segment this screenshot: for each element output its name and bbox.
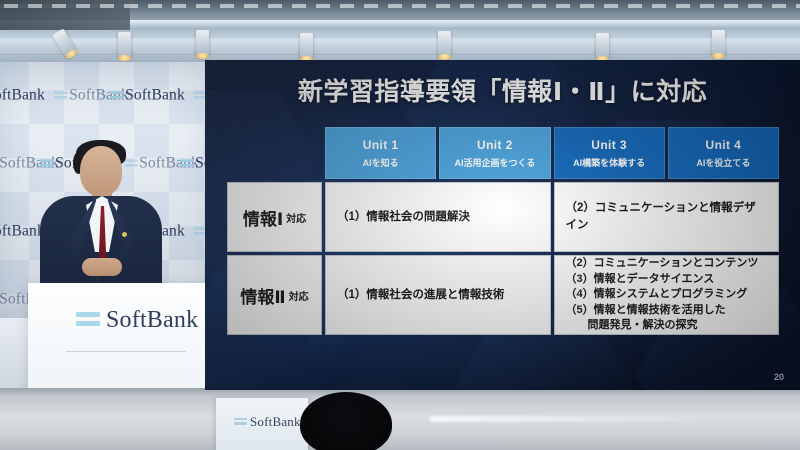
presenter-hands — [82, 258, 122, 276]
unit-title: Unit 3 — [591, 138, 627, 152]
list-item-continuation: 問題発見・解決の探究 — [566, 318, 759, 334]
unit-subtitle: AIを役立てる — [696, 156, 750, 169]
curriculum-mapping-table: Unit 1 AIを知る Unit 2 AI活用企画をつくる Unit 3 AI… — [227, 127, 779, 338]
truss-structure — [0, 0, 130, 30]
ceiling-lighting-truss — [0, 0, 800, 62]
list-item: （2）コミュニケーションとコンテンツ — [566, 257, 759, 269]
screenshot-stage: SoftBankSoftBankSoftBankSoftBankSoftBank… — [0, 0, 800, 450]
unit-title: Unit 1 — [363, 138, 399, 152]
unit-title: Unit 4 — [706, 138, 742, 152]
list-item: （3）情報とデータサイエンス — [566, 273, 715, 285]
softbank-wordmark: SoftBank — [125, 86, 185, 104]
softbank-bars-icon — [180, 159, 194, 166]
presenter-lapel-pin — [122, 232, 127, 237]
spotlight-icon — [596, 33, 609, 59]
softbank-bars-icon — [234, 418, 247, 427]
spotlight-icon — [196, 30, 209, 56]
spotlight-icon — [438, 31, 451, 57]
row-header-sub: 対応 — [286, 210, 306, 225]
row-header-main: 情報Ⅱ — [240, 283, 285, 308]
spotlight-icon — [52, 29, 77, 58]
unit-subtitle: AIを知る — [363, 156, 399, 169]
softbank-logo-backdrop: SoftBank — [0, 86, 45, 104]
unit-subtitle: AI活用企画をつくる — [454, 156, 535, 169]
slide-page-number: 20 — [774, 372, 784, 382]
unit-header-3[interactable]: Unit 3 AI構築を体験する — [554, 127, 665, 179]
unit-title: Unit 2 — [477, 138, 513, 152]
softbank-bars-icon — [110, 91, 124, 98]
slide-title: 新学習指導要領「情報Ⅰ・Ⅱ」に対応 — [205, 72, 800, 108]
projected-presentation-slide: 新学習指導要領「情報Ⅰ・Ⅱ」に対応 Unit 1 AIを知る Unit 2 AI… — [205, 60, 800, 390]
cell-text: （1）情報社会の問題解決 — [337, 209, 470, 226]
row-header-main: 情報Ⅰ — [243, 205, 283, 230]
cell-text-list: （2）コミュニケーションとコンテンツ （3）情報とデータサイエンス （4）情報シ… — [566, 256, 759, 334]
list-item: （4）情報システムとプログラミング — [566, 288, 748, 300]
unit-subtitle: AI構築を体験する — [573, 156, 645, 169]
row-header-joho-2: 情報Ⅱ 対応 — [227, 255, 322, 335]
softbank-logo-podium: SoftBank — [76, 307, 198, 334]
cell-joho2-units12: （1）情報社会の進展と情報技術 — [325, 255, 551, 335]
softbank-logo-foreground-podium: SoftBank — [234, 414, 301, 430]
cell-text: （2）コミュニケーションと情報デザイン — [566, 200, 768, 233]
table-row: 情報Ⅱ 対応 （1）情報社会の進展と情報技術 （2）コミュニケーションとコンテン… — [227, 255, 779, 335]
row-header-joho-1: 情報Ⅰ 対応 — [227, 182, 322, 252]
unit-header-2[interactable]: Unit 2 AI活用企画をつくる — [439, 127, 550, 179]
cell-joho2-units34: （2）コミュニケーションとコンテンツ （3）情報とデータサイエンス （4）情報シ… — [554, 255, 780, 335]
unit-header-row: Unit 1 AIを知る Unit 2 AI活用企画をつくる Unit 3 AI… — [325, 127, 779, 179]
softbank-bars-icon — [54, 91, 68, 98]
spotlight-icon — [118, 32, 131, 58]
audience-head-silhouette — [300, 392, 392, 450]
cell-joho1-units34: （2）コミュニケーションと情報デザイン — [554, 182, 780, 252]
cell-joho1-units12: （1）情報社会の問題解決 — [325, 182, 551, 252]
softbank-wordmark: SoftBank — [106, 307, 198, 334]
softbank-wordmark: SoftBank — [250, 414, 301, 430]
softbank-wordmark: SoftBank — [0, 86, 45, 104]
list-item: （5）情報と情報技術を活用した — [566, 304, 726, 316]
unit-header-1[interactable]: Unit 1 AIを知る — [325, 127, 436, 179]
spotlight-icon — [712, 30, 725, 56]
table-row: 情報Ⅰ 対応 （1）情報社会の問題解決 （2）コミュニケーションと情報デザイン — [227, 182, 779, 252]
cell-text: （1）情報社会の進展と情報技術 — [337, 287, 504, 304]
softbank-bars-icon — [76, 312, 100, 330]
row-header-sub: 対応 — [289, 288, 309, 303]
unit-header-4[interactable]: Unit 4 AIを役立てる — [668, 127, 779, 179]
podium-divider — [66, 351, 186, 352]
spotlight-icon — [300, 33, 313, 59]
venue-floor — [0, 388, 800, 450]
podium-foreground: SoftBank — [216, 398, 308, 450]
softbank-logo-backdrop: SoftBank — [110, 86, 185, 104]
